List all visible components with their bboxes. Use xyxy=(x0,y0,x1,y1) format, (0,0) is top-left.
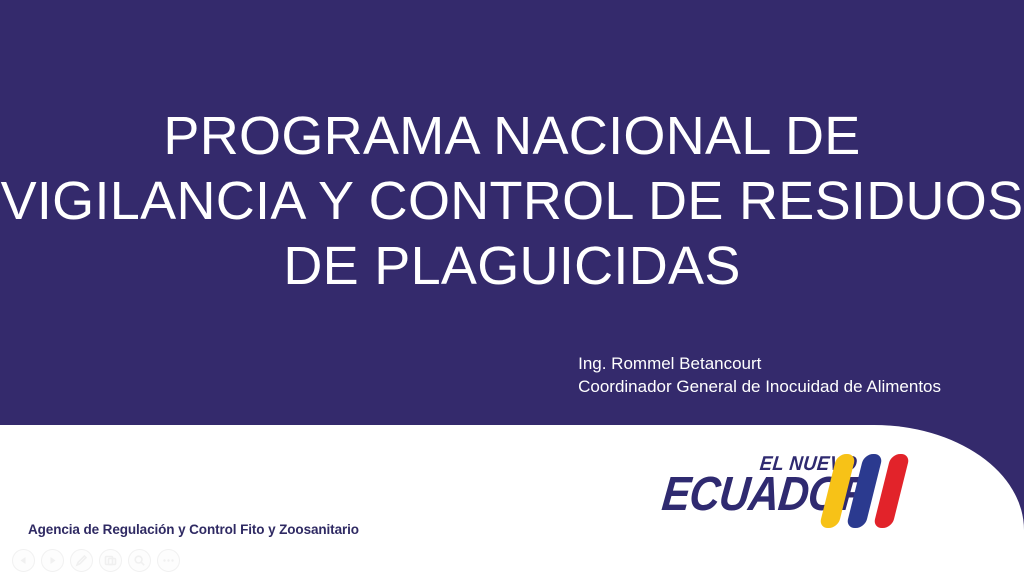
previous-arrow-icon[interactable] xyxy=(12,549,35,572)
presenter-info: Ing. Rommel Betancourt Coordinador Gener… xyxy=(578,352,941,398)
more-options-icon[interactable] xyxy=(157,549,180,572)
present-icon[interactable] xyxy=(99,549,122,572)
agency-name: Agencia de Regulación y Control Fito y Z… xyxy=(28,522,359,537)
pen-icon[interactable] xyxy=(70,549,93,572)
slide-title: PROGRAMA NACIONAL DE VIGILANCIA Y CONTRO… xyxy=(0,104,1024,299)
search-icon[interactable] xyxy=(128,549,151,572)
title-line-2: VIGILANCIA Y CONTROL DE RESIDUOS xyxy=(0,169,1024,234)
next-arrow-icon[interactable] xyxy=(41,549,64,572)
presenter-role: Coordinador General de Inocuidad de Alim… xyxy=(578,375,941,398)
ecuador-logo: EL NUEVO ECUADOR xyxy=(665,448,915,530)
title-line-1: PROGRAMA NACIONAL DE xyxy=(0,104,1024,169)
ecuador-flag-bars-icon xyxy=(828,454,914,528)
presenter-name: Ing. Rommel Betancourt xyxy=(578,352,941,375)
presentation-slide: PROGRAMA NACIONAL DE VIGILANCIA Y CONTRO… xyxy=(0,0,1024,576)
slide-toolbar xyxy=(12,549,180,572)
title-line-3: DE PLAGUICIDAS xyxy=(0,234,1024,299)
